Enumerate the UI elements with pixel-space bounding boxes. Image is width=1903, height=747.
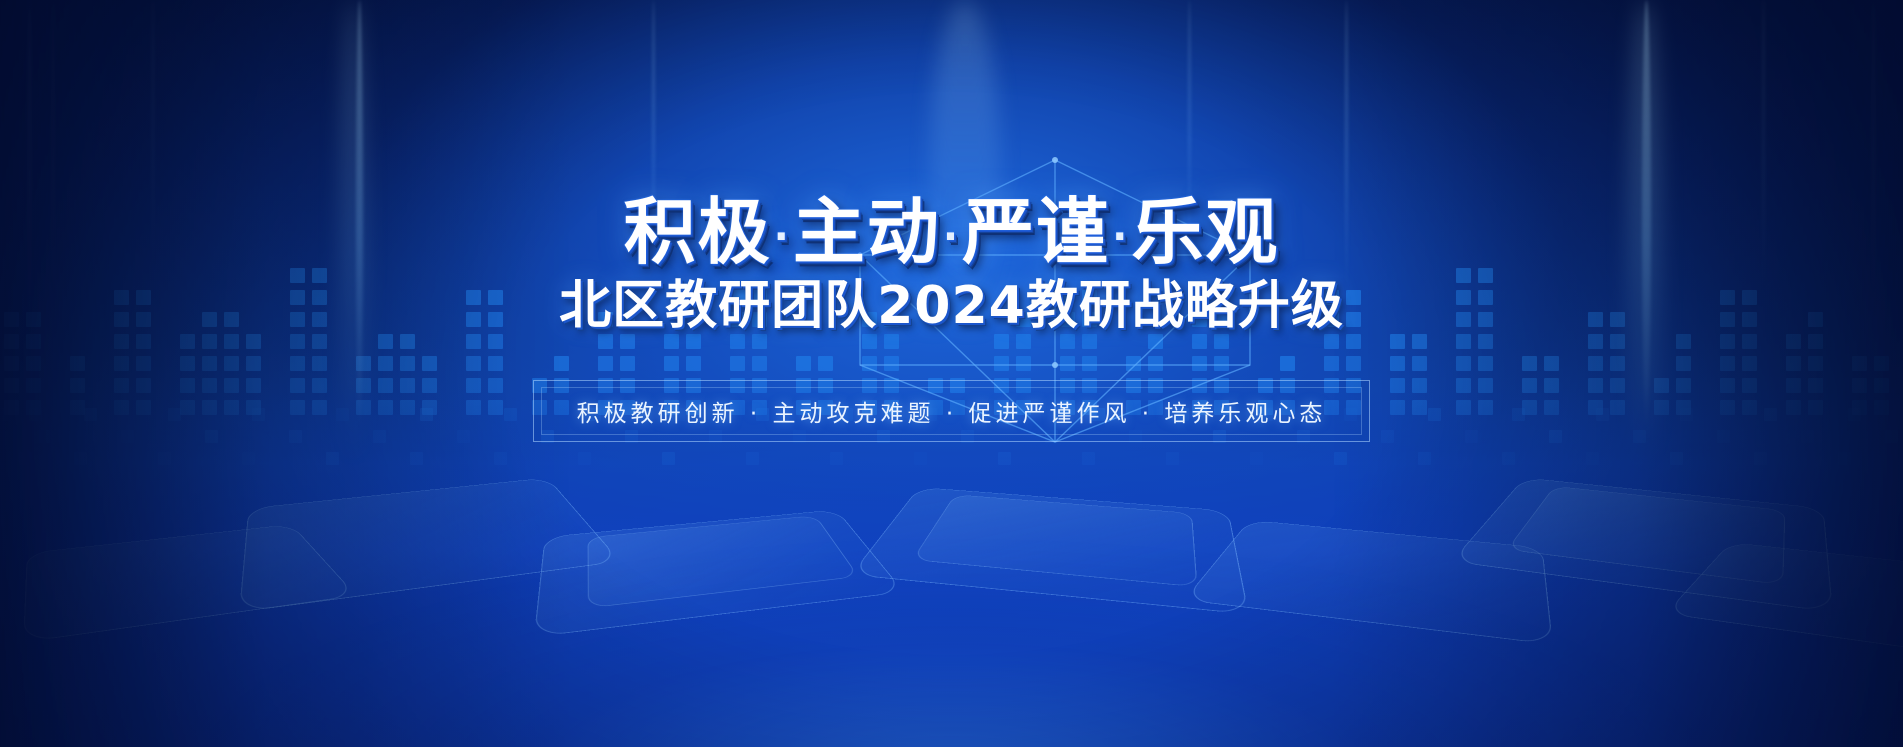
promo-banner: 积极·主动·严谨·乐观 北区教研团队2024教研战略升级 积极教研创新 · 主动… [0, 0, 1903, 747]
page-title: 积极·主动·严谨·乐观 [624, 196, 1280, 268]
tagline-box: 积极教研创新 · 主动攻克难题 · 促进严谨作风 · 培养乐观心态 [533, 380, 1371, 442]
title-word: 积极 [624, 190, 772, 274]
title-word: 乐观 [1131, 190, 1279, 274]
banner-content: 积极·主动·严谨·乐观 北区教研团队2024教研战略升级 积极教研创新 · 主动… [0, 0, 1903, 747]
title-separator: · [1110, 214, 1131, 260]
page-subtitle: 北区教研团队2024教研战略升级 [559, 280, 1344, 332]
title-word: 主动 [793, 190, 941, 274]
title-separator: · [941, 214, 962, 260]
title-word: 严谨 [962, 190, 1110, 274]
tagline-text: 积极教研创新 · 主动攻克难题 · 促进严谨作风 · 培养乐观心态 [577, 394, 1327, 428]
title-separator: · [772, 214, 793, 260]
